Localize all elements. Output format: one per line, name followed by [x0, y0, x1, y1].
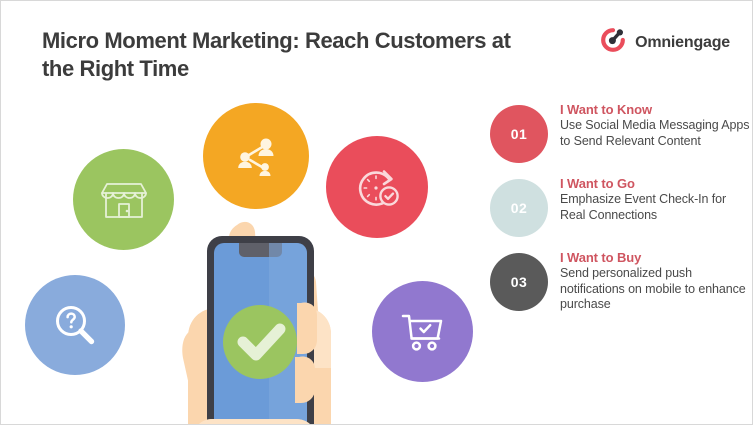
step-number-badge: 03: [490, 253, 548, 311]
omniengage-target-logo-icon: [600, 27, 626, 58]
hand-holding-phone: [149, 187, 354, 425]
step-body: Use Social Media Messaging Apps to Send …: [560, 118, 750, 149]
page-title: Micro Moment Marketing: Reach Customers …: [42, 27, 522, 83]
bubble-cart-check: [372, 281, 473, 382]
step-heading: I Want to Go: [560, 176, 750, 191]
illustration-group: [1, 89, 501, 425]
brand-name: Omniengage: [635, 34, 730, 52]
magnifier-question-icon: [50, 300, 100, 350]
step-number-badge: 02: [490, 179, 548, 237]
step-item-02[interactable]: 02 I Want to Go Emphasize Event Check-In…: [490, 175, 750, 237]
shopping-cart-check-icon: [397, 308, 449, 356]
clock-timer-check-icon: [351, 163, 403, 211]
step-number-badge: 01: [490, 105, 548, 163]
bubble-search-question: [25, 275, 125, 375]
social-share-users-icon: [227, 127, 285, 185]
step-body: Emphasize Event Check-In for Real Connec…: [560, 192, 750, 223]
step-item-01[interactable]: 01 I Want to Know Use Social Media Messa…: [490, 101, 750, 163]
slide-canvas: Micro Moment Marketing: Reach Customers …: [0, 0, 753, 425]
step-item-03[interactable]: 03 I Want to Buy Send personalized push …: [490, 249, 750, 313]
brand-logo: Omniengage: [600, 27, 730, 58]
steps-list: 01 I Want to Know Use Social Media Messa…: [490, 101, 750, 313]
step-body: Send personalized push notifications on …: [560, 266, 750, 313]
step-heading: I Want to Buy: [560, 250, 750, 265]
storefront-icon: [100, 178, 148, 222]
step-heading: I Want to Know: [560, 102, 750, 117]
